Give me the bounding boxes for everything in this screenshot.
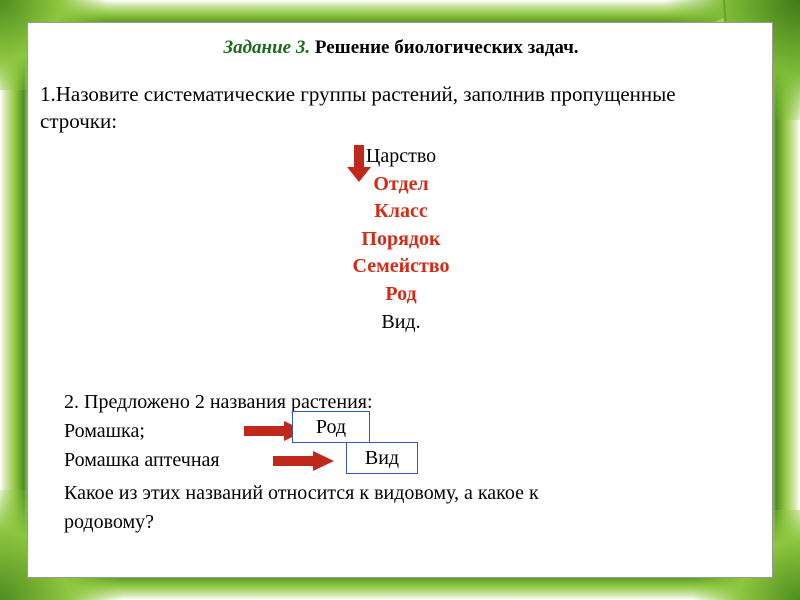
question-2-tail-line-1: Какое из этих названий относится к видов… [64,479,724,508]
slide: Задание 3. Решение биологических задач. … [0,0,800,600]
taxonomy-item-kingdom: Царство [28,143,774,171]
taxonomy-item-division: Отдел [28,171,774,199]
taxonomy-item-genus: Род [28,281,774,309]
taxonomy-item-order: Порядок [28,226,774,254]
page-title-rest: Решение биологических задач. [310,37,578,58]
right-arrow-icon-species [273,451,335,471]
question-2-tail-line-2: родовому? [64,508,724,537]
taxonomy-item-family: Семейство [28,253,774,281]
question-2-item-1: Ромашка; [64,420,145,442]
page-title: Задание 3. Решение биологических задач. [28,37,774,59]
question-2-intro-row: 2. Предложено 2 названия растения: [64,388,724,417]
taxonomy-item-species: Вид. [28,309,774,337]
content-card: Задание 3. Решение биологических задач. … [27,22,773,578]
question-2-item-2-row: Ромашка аптечная Вид [64,446,724,477]
label-box-species: Вид [346,442,418,474]
question-2-block: 2. Предложено 2 названия растения: Ромаш… [64,388,724,537]
question-2-intro: 2. Предложено 2 названия растения: [64,391,373,413]
page-title-emphasis: Задание 3. [223,37,310,58]
question-2-item-2: Ромашка аптечная [64,449,220,471]
question-1-text: 1.Назовите систематические группы растен… [40,81,740,135]
taxonomy-list: Царство Отдел Класс Порядок Семейство Ро… [28,143,774,336]
label-box-genus: Род [292,411,370,443]
taxonomy-item-class: Класс [28,198,774,226]
